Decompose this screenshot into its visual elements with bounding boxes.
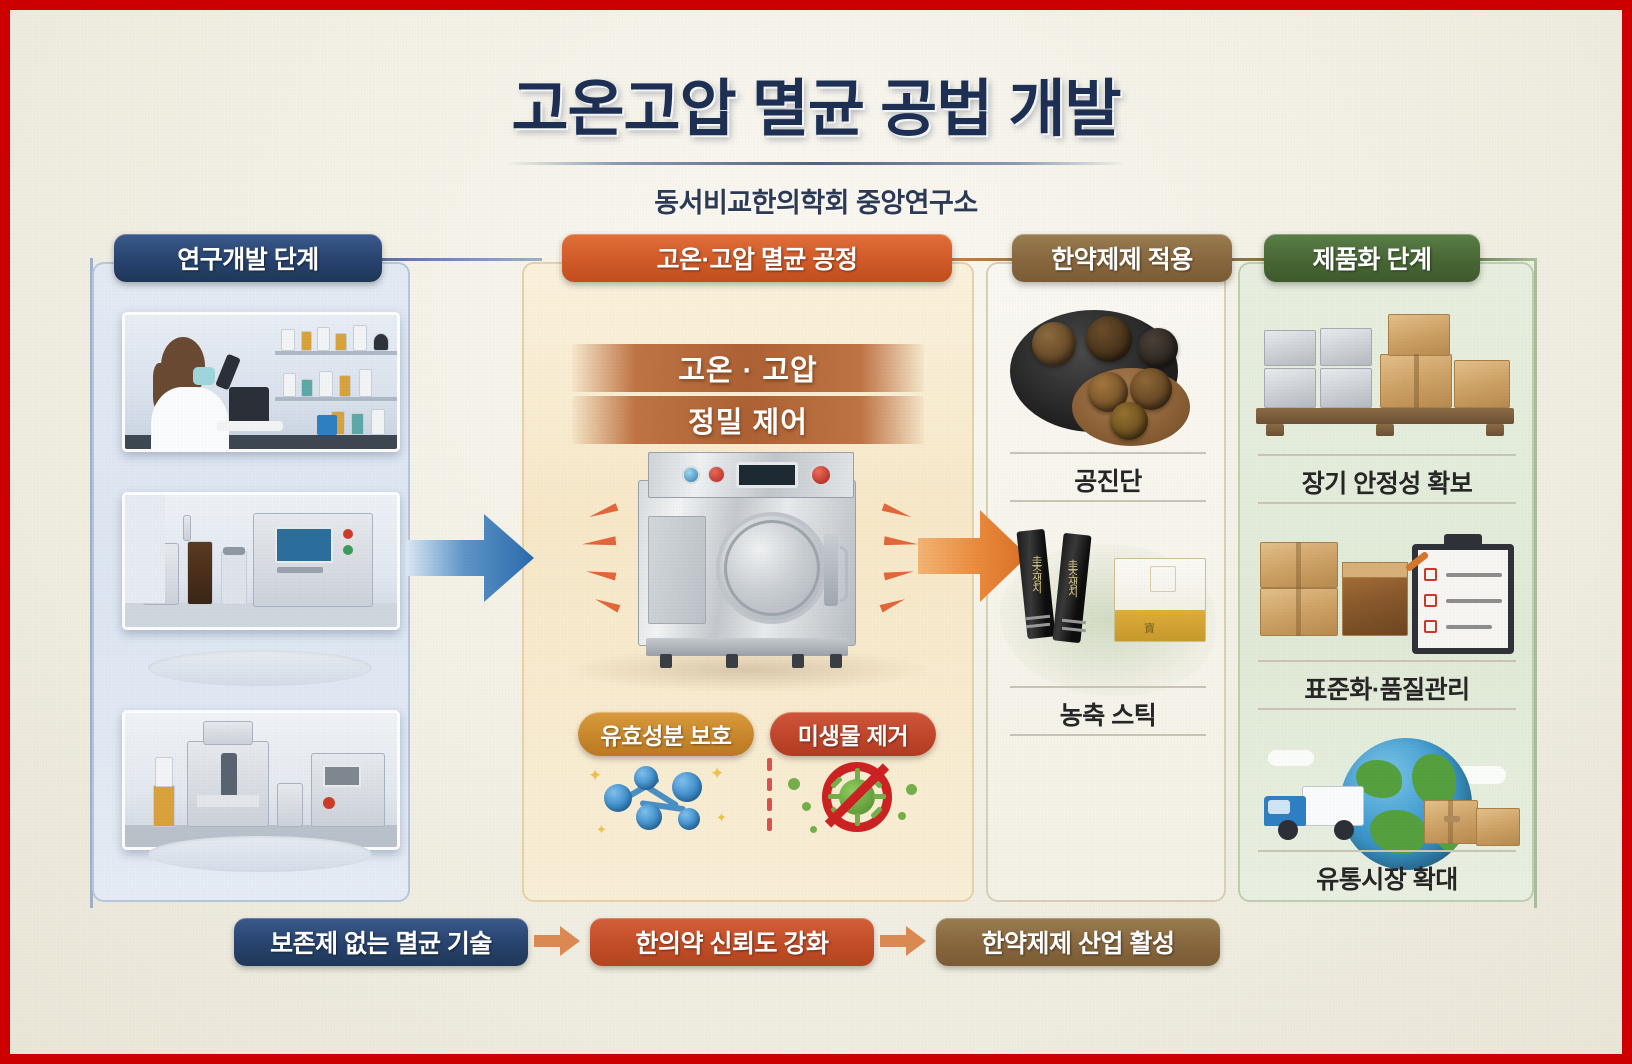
process-banner-temp-pressure: 고온 · 고압 — [572, 344, 924, 392]
flow-step-industry-growth[interactable]: 한약제제 산업 활성 — [936, 918, 1220, 966]
dash-2 — [767, 778, 772, 791]
connector-rnd-process — [382, 258, 542, 261]
badge-remove-microbes[interactable]: 미생물 제거 — [770, 712, 936, 756]
dash-1 — [767, 758, 772, 771]
apply-divider-2 — [1010, 500, 1206, 502]
process-banner-precision: 정밀 제어 — [572, 396, 924, 444]
badge-label-remove: 미생물 제거 — [798, 717, 908, 751]
autoclave-sterilizer-icon[interactable] — [624, 442, 876, 670]
stage-header-apply[interactable]: 한약제제 적용 — [1012, 234, 1232, 282]
flow-step-sterilization-tech[interactable]: 보존제 없는 멸균 기술 — [234, 918, 528, 966]
stage-label-process: 고온·고압 멸균 공정 — [657, 240, 858, 276]
title-block: 고온고압 멸균 공법 개발 동서비교한의학회 중앙연구소 — [10, 58, 1622, 220]
lab-surface-ellipse-2 — [148, 836, 372, 872]
apply-divider-1 — [1010, 452, 1206, 454]
banner-label-1: 고온 · 고압 — [678, 347, 818, 389]
flow-label-2: 한의약 신뢰도 강화 — [636, 924, 829, 960]
lab-photo-microscope[interactable] — [122, 312, 400, 452]
flow-connector-1 — [534, 926, 580, 956]
product-item-label-standardization: 표준화·품질관리 — [1258, 670, 1516, 706]
product-divider-5 — [1258, 850, 1516, 852]
badge-label-protect: 유효성분 보호 — [600, 717, 731, 751]
product-divider-4 — [1258, 708, 1516, 710]
apply-item-label-stick: 농축 스틱 — [1010, 696, 1206, 732]
sparkle-icon-4: ✦ — [596, 822, 607, 838]
flow-step-trust-enhancement[interactable]: 한의약 신뢰도 강화 — [590, 918, 874, 966]
banner-label-2: 정밀 제어 — [688, 399, 808, 441]
badge-protect-active-ingredients[interactable]: 유효성분 보호 — [578, 712, 754, 756]
flow-label-3: 한약제제 산업 활성 — [982, 924, 1175, 960]
sparkle-icon-2: ✦ — [710, 764, 724, 784]
apply-item-label-gongjindan: 공진단 — [1010, 462, 1206, 498]
lab-surface-ellipse-1 — [148, 650, 372, 686]
outer-frame-right — [1534, 258, 1537, 908]
page-subtitle: 동서비교한의학회 중앙연구소 — [10, 181, 1622, 220]
poster-canvas: 고온고압 멸균 공법 개발 동서비교한의학회 중앙연구소 연구개발 단계 고온·… — [10, 10, 1622, 1054]
dash-3 — [767, 798, 772, 811]
title-divider — [506, 162, 1126, 165]
lab-photo-equipment[interactable] — [122, 492, 400, 630]
connector-process-apply — [952, 258, 1012, 261]
stage-label-product: 제품화 단계 — [1313, 240, 1432, 276]
flow-label-1: 보존제 없는 멸균 기술 — [270, 924, 492, 960]
arrow-rnd-to-process — [406, 510, 534, 611]
apply-divider-3 — [1010, 686, 1206, 688]
product-divider-2 — [1258, 502, 1516, 504]
stage-header-rnd[interactable]: 연구개발 단계 — [114, 234, 382, 282]
stage-header-product[interactable]: 제품화 단계 — [1264, 234, 1480, 282]
page-title: 고온고압 멸균 공법 개발 — [10, 58, 1622, 148]
product-divider-1 — [1258, 454, 1516, 456]
sparkle-icon-3: ✦ — [716, 810, 727, 826]
stage-label-apply: 한약제제 적용 — [1051, 240, 1192, 276]
connector-product-end — [1480, 258, 1536, 261]
product-divider-3 — [1258, 660, 1516, 662]
apply-divider-4 — [1010, 734, 1206, 736]
product-item-label-stability: 장기 안정성 확보 — [1258, 464, 1516, 500]
stage-label-rnd: 연구개발 단계 — [177, 240, 318, 276]
dash-4 — [767, 818, 772, 831]
flow-connector-2 — [880, 926, 926, 956]
product-item-label-distribution: 유통시장 확대 — [1258, 860, 1516, 896]
connector-apply-product — [1232, 258, 1264, 261]
lab-photo-press[interactable] — [122, 710, 400, 850]
stage-header-process[interactable]: 고온·고압 멸균 공정 — [562, 234, 952, 282]
sparkle-icon-1: ✦ — [588, 766, 602, 786]
